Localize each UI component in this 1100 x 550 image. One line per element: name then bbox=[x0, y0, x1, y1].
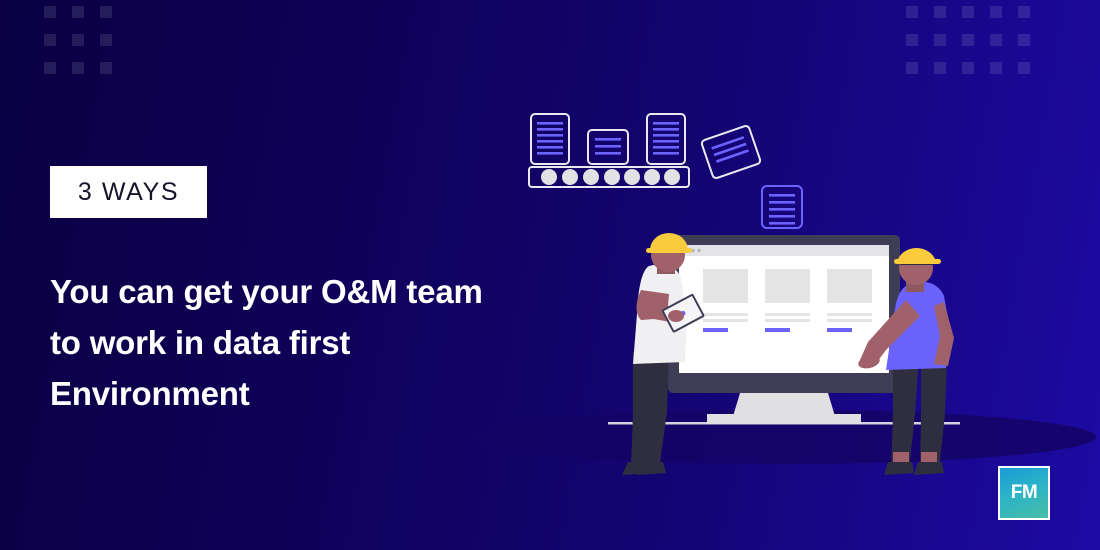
belt-document-1 bbox=[531, 114, 569, 164]
eyebrow-badge-label: 3 WAYS bbox=[78, 178, 179, 207]
desktop-monitor bbox=[668, 235, 900, 424]
brand-logo-text: FM bbox=[1011, 482, 1037, 504]
conveyor-rollers bbox=[541, 169, 680, 185]
belt-document-2 bbox=[588, 130, 628, 164]
worker-left-shoe-front bbox=[622, 462, 653, 475]
conveyor-group bbox=[529, 114, 689, 187]
worker-right-shoe-left bbox=[884, 462, 914, 475]
monitor-base bbox=[707, 414, 861, 424]
browser-titlebar bbox=[679, 245, 889, 256]
worker-right-hardhat-brim bbox=[894, 259, 941, 264]
floating-document-upright bbox=[762, 186, 802, 228]
promo-banner: 3 WAYS You can get your O&M team to work… bbox=[0, 0, 1100, 550]
monitor-screen bbox=[679, 245, 889, 373]
worker-right-shoe-right bbox=[914, 462, 944, 475]
worker-left-hardhat-brim bbox=[646, 248, 692, 253]
monitor-power-dot bbox=[778, 380, 790, 392]
worker-left-hand bbox=[668, 310, 684, 322]
page-title: You can get your O&M team to work in dat… bbox=[50, 266, 520, 419]
belt-document-3 bbox=[647, 114, 685, 164]
eyebrow-badge: 3 WAYS bbox=[50, 166, 207, 218]
brand-logo[interactable]: FM bbox=[998, 466, 1050, 520]
floating-document-tilted bbox=[701, 125, 761, 179]
